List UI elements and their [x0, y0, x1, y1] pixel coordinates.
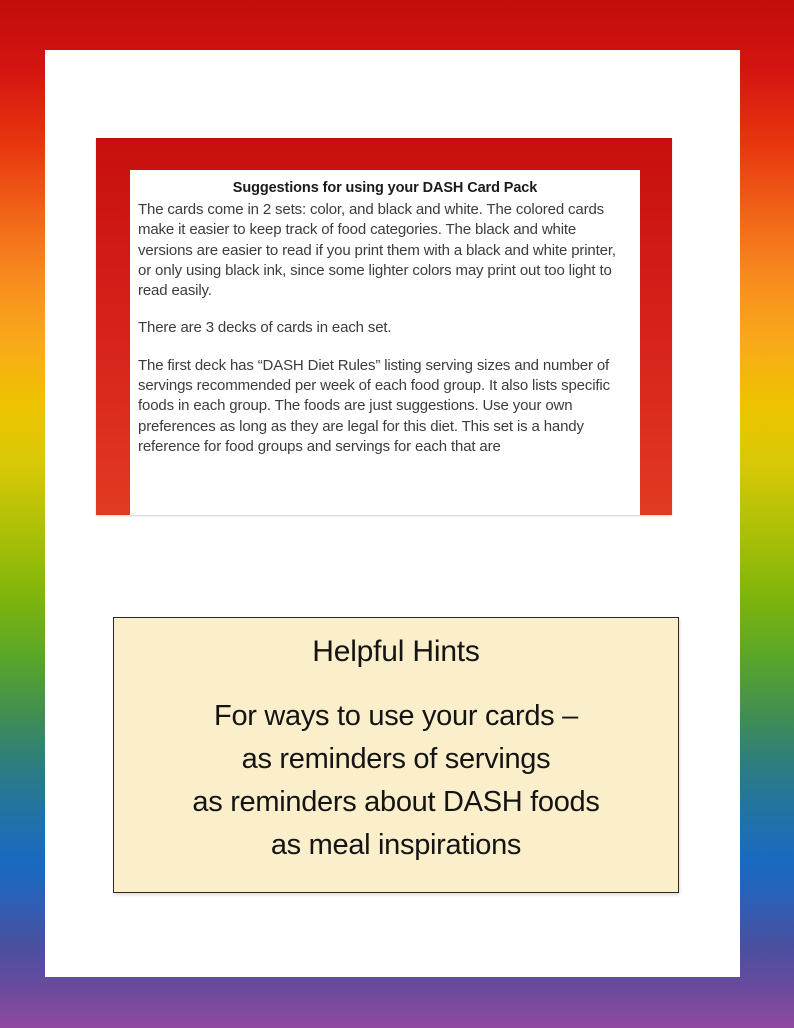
card-paragraph-1: The cards come in 2 sets: color, and bla… — [138, 200, 632, 301]
helpful-hints-box: Helpful Hints For ways to use your cards… — [113, 617, 679, 893]
card-title: Suggestions for using your DASH Card Pac… — [130, 170, 640, 196]
hints-line-4: as meal inspirations — [114, 824, 678, 867]
suggestions-card: Suggestions for using your DASH Card Pac… — [96, 138, 672, 515]
hints-line-1: For ways to use your cards – — [114, 695, 678, 738]
helpful-hints-title: Helpful Hints — [114, 618, 678, 669]
rainbow-gradient-frame: Suggestions for using your DASH Card Pac… — [0, 0, 794, 1028]
card-paragraph-3: The first deck has “DASH Diet Rules” lis… — [138, 356, 632, 457]
suggestions-card-content: Suggestions for using your DASH Card Pac… — [130, 170, 640, 515]
card-paragraph-2: There are 3 decks of cards in each set. — [138, 318, 632, 338]
white-page-sheet: Suggestions for using your DASH Card Pac… — [45, 50, 740, 977]
hints-line-3: as reminders about DASH foods — [114, 781, 678, 824]
helpful-hints-list: For ways to use your cards – as reminder… — [114, 695, 678, 867]
hints-line-2: as reminders of servings — [114, 738, 678, 781]
card-body: The cards come in 2 sets: color, and bla… — [130, 196, 640, 457]
